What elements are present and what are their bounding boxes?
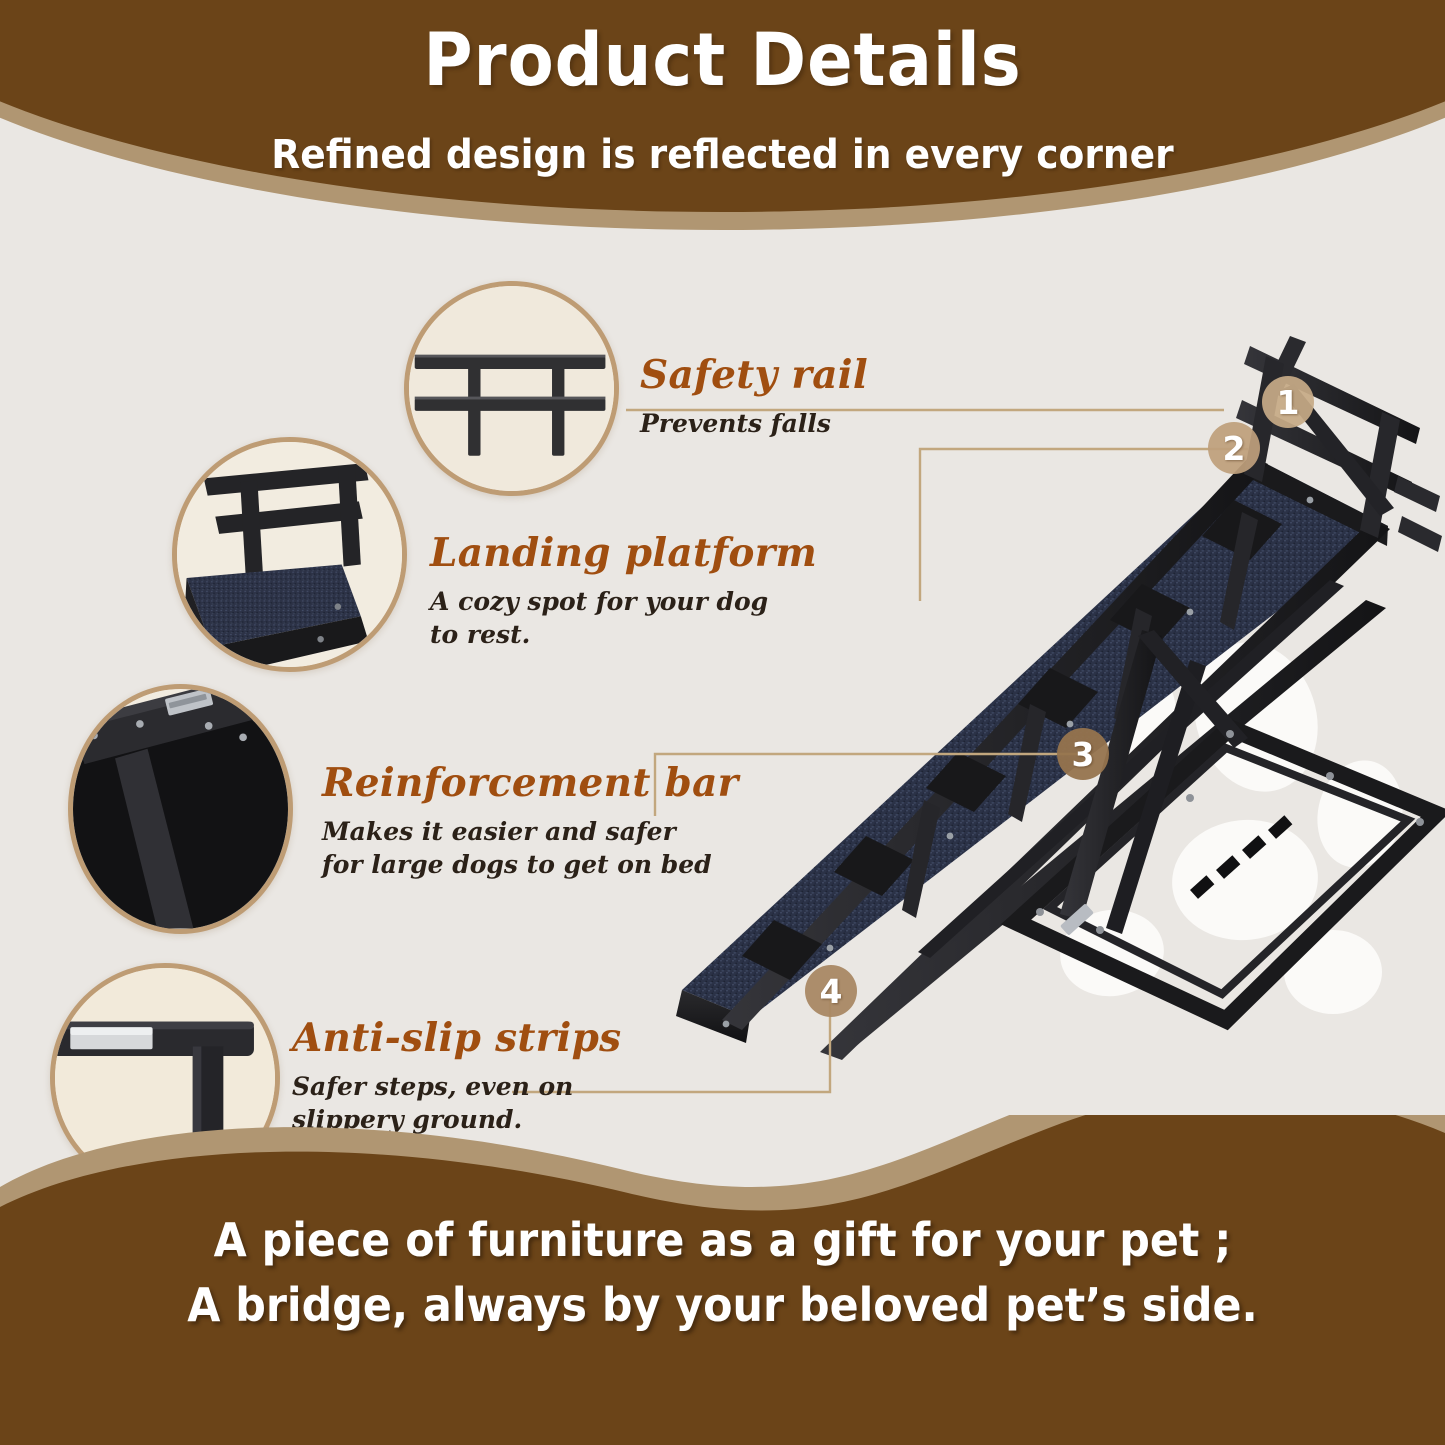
feature-3-text: Reinforcement bar Makes it easier and sa…: [322, 760, 739, 881]
footer-banner: A piece of furniture as a gift for your …: [0, 1115, 1445, 1445]
feature-1-title: Safety rail: [640, 352, 868, 398]
feature-3-title: Reinforcement bar: [322, 760, 739, 806]
feature-4-title: Anti-slip strips: [292, 1015, 621, 1061]
feature-2-desc: A cozy spot for your dog to rest.: [430, 585, 817, 651]
infographic-canvas: 1 2 3 4 Safety rail Prevents falls: [0, 0, 1445, 1445]
footer-line-1: A piece of furniture as a gift for your …: [51, 1213, 1395, 1267]
feature-2-title: Landing platform: [430, 530, 817, 576]
marker-2[interactable]: 2: [1208, 422, 1260, 474]
footer-line-2: A bridge, always by your beloved pet’s s…: [51, 1278, 1395, 1332]
feature-2-photo-circle: [172, 437, 407, 672]
page-title: Product Details: [58, 18, 1387, 103]
feature-3-desc: Makes it easier and safer for large dogs…: [322, 815, 739, 881]
feature-1-photo-circle: [404, 281, 619, 496]
marker-1[interactable]: 1: [1262, 376, 1314, 428]
marker-3[interactable]: 3: [1057, 728, 1109, 780]
safety-rail-icon: [409, 286, 614, 491]
page-subtitle: Refined design is reflected in every cor…: [43, 132, 1401, 178]
reinforcement-bar-icon: [73, 689, 288, 929]
feature-2-text: Landing platform A cozy spot for your do…: [430, 530, 817, 651]
landing-platform-icon: [177, 442, 402, 667]
feature-1-text: Safety rail Prevents falls: [640, 352, 868, 440]
feature-1-desc: Prevents falls: [640, 407, 868, 440]
header-banner: Product Details Refined design is reflec…: [0, 0, 1445, 230]
feature-3-photo-circle: [68, 684, 293, 934]
marker-4[interactable]: 4: [805, 965, 857, 1017]
